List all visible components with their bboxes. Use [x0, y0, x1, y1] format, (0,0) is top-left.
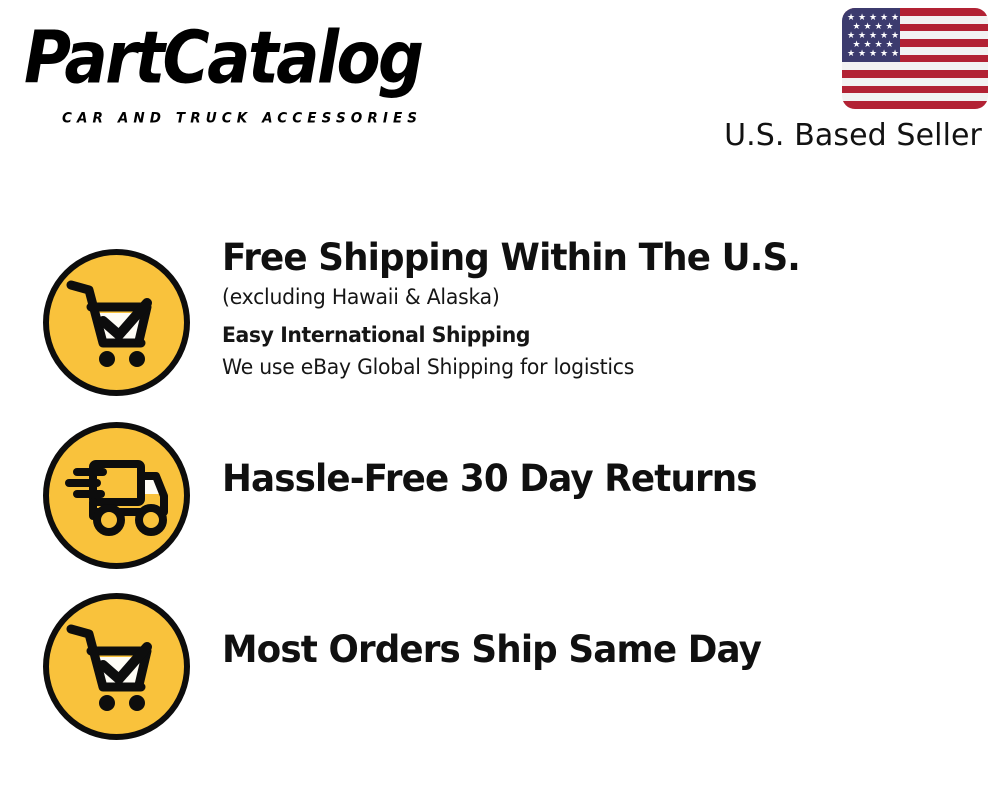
feature-text-block: Hassle-Free 30 Day Returns [222, 456, 992, 502]
feature-row: Hassle-Free 30 Day Returns [0, 408, 1000, 578]
delivery-truck-icon [43, 422, 190, 569]
brand-logo[interactable]: PartCatalog CAR AND TRUCK ACCESSORIES [24, 22, 494, 117]
seller-badge-label: U.S. Based Seller [718, 119, 982, 153]
us-based-seller-badge: ★ ★ ★ ★ ★ ★ ★ ★ ★ ★ ★ ★ ★ ★ ★ ★ ★ ★ ★ ★ [718, 8, 988, 153]
feature-title: Most Orders Ship Same Day [222, 627, 965, 673]
feature-row: Free Shipping Within The U.S. (excluding… [0, 235, 1000, 415]
us-flag-icon: ★ ★ ★ ★ ★ ★ ★ ★ ★ ★ ★ ★ ★ ★ ★ ★ ★ ★ ★ ★ [842, 8, 988, 109]
feature-row: Most Orders Ship Same Day [0, 579, 1000, 749]
feature-title: Free Shipping Within The U.S. [222, 235, 965, 281]
feature-text-block: Free Shipping Within The U.S. (excluding… [222, 235, 992, 383]
shopping-cart-check-icon [43, 249, 190, 396]
feature-title: Hassle-Free 30 Day Returns [222, 456, 965, 502]
page-header: PartCatalog CAR AND TRUCK ACCESSORIES ★ … [0, 0, 1000, 175]
feature-text-block: Most Orders Ship Same Day [222, 627, 992, 673]
flag-canton: ★ ★ ★ ★ ★ ★ ★ ★ ★ ★ ★ ★ ★ ★ ★ ★ ★ ★ ★ ★ [842, 8, 900, 62]
feature-subtitle: Easy International Shipping [222, 319, 969, 351]
brand-tagline: CAR AND TRUCK ACCESSORIES [62, 110, 422, 127]
feature-subtitle: We use eBay Global Shipping for logistic… [222, 351, 969, 383]
feature-subtitle: (excluding Hawaii & Alaska) [222, 281, 969, 313]
shopping-cart-check-icon [43, 593, 190, 740]
brand-wordmark: PartCatalog [24, 22, 503, 95]
